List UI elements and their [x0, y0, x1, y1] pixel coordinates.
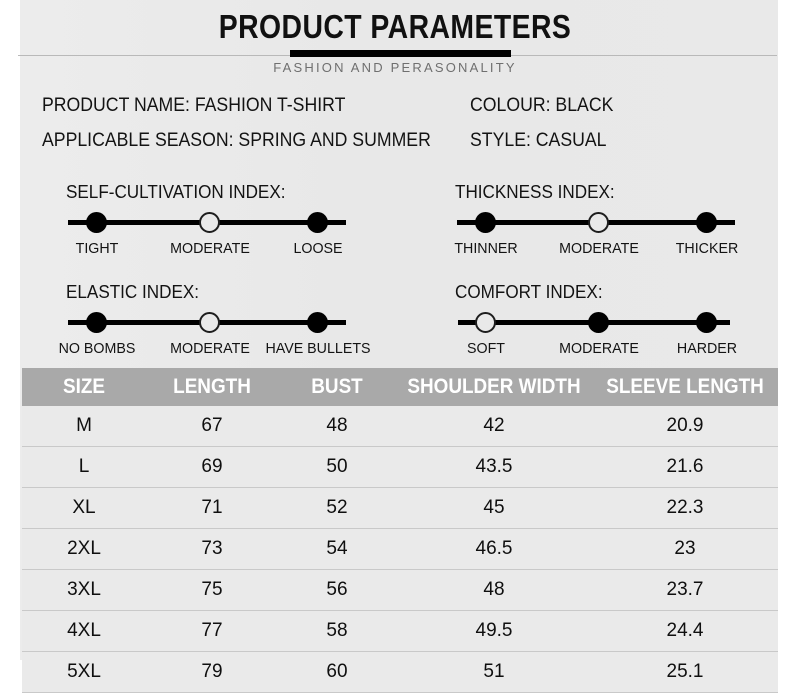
- table-header-row: SIZE LENGTH BUST SHOULDER WIDTH SLEEVE L…: [22, 368, 778, 406]
- scale-dot-moderate: [199, 212, 220, 233]
- cell-shoulder-width: 48: [396, 579, 592, 601]
- scale-dot-tight: [86, 212, 107, 233]
- cell-bust: 60: [278, 661, 396, 683]
- product-parameters-infographic: PRODUCT PARAMETERS FASHION AND PERASONAL…: [0, 0, 790, 698]
- table-row: XL 71 52 45 22.3: [22, 488, 778, 529]
- product-name-text: PRODUCT NAME: FASHION T-SHIRT: [42, 95, 345, 117]
- cell-length: 75: [146, 579, 278, 601]
- scale-dot-have-bullets: [307, 312, 328, 333]
- cell-sleeve-length: 23: [592, 538, 778, 560]
- cell-size: XL: [22, 497, 146, 519]
- scale-dot-soft: [475, 312, 496, 333]
- product-style-text: STYLE: CASUAL: [470, 130, 607, 152]
- cell-sleeve-length: 24.4: [592, 620, 778, 642]
- self-cultivation-index-scale: SELF-CULTIVATION INDEX: TIGHT MODERATE L…: [66, 182, 396, 272]
- thickness-index-scale: THICKNESS INDEX: THINNER MODERATE THICKE…: [455, 182, 785, 272]
- cell-length: 77: [146, 620, 278, 642]
- scale-dot-thicker: [696, 212, 717, 233]
- table-row: 2XL 73 54 46.5 23: [22, 529, 778, 570]
- scale-label: TIGHT: [76, 240, 119, 257]
- table-row: 3XL 75 56 48 23.7: [22, 570, 778, 611]
- scale-dot-moderate: [588, 312, 609, 333]
- scale-label: MODERATE: [170, 340, 250, 357]
- cell-sleeve-length: 25.1: [592, 661, 778, 683]
- page-subtitle: FASHION AND PERASONALITY: [0, 60, 790, 75]
- scale-label: THICKER: [676, 240, 739, 257]
- scale-label: HAVE BULLETS: [265, 340, 370, 357]
- scale-label: MODERATE: [559, 240, 639, 257]
- scale-label: MODERATE: [170, 240, 250, 257]
- column-header-size: SIZE: [28, 375, 140, 399]
- cell-sleeve-length: 21.6: [592, 456, 778, 478]
- elastic-index-scale: ELASTIC INDEX: NO BOMBS MODERATE HAVE BU…: [66, 282, 396, 372]
- comfort-index-scale: COMFORT INDEX: SOFT MODERATE HARDER: [455, 282, 785, 372]
- product-colour-text: COLOUR: BLACK: [470, 95, 613, 117]
- cell-size: M: [22, 415, 146, 437]
- table-row: M 67 48 42 20.9: [22, 406, 778, 447]
- scale-label: THINNER: [454, 240, 517, 257]
- scale-label: HARDER: [677, 340, 737, 357]
- cell-length: 67: [146, 415, 278, 437]
- cell-size: 5XL: [22, 661, 146, 683]
- cell-length: 79: [146, 661, 278, 683]
- cell-size: 2XL: [22, 538, 146, 560]
- scale-dot-harder: [696, 312, 717, 333]
- scale-title: SELF-CULTIVATION INDEX:: [66, 182, 285, 203]
- cell-shoulder-width: 46.5: [396, 538, 592, 560]
- cell-bust: 50: [278, 456, 396, 478]
- header-accent-bar: [290, 50, 511, 57]
- column-header-sleeve-length: SLEEVE LENGTH: [601, 375, 768, 399]
- size-table: SIZE LENGTH BUST SHOULDER WIDTH SLEEVE L…: [22, 368, 778, 693]
- cell-size: 3XL: [22, 579, 146, 601]
- cell-shoulder-width: 42: [396, 415, 592, 437]
- cell-length: 71: [146, 497, 278, 519]
- cell-bust: 58: [278, 620, 396, 642]
- table-row: 4XL 77 58 49.5 24.4: [22, 611, 778, 652]
- cell-length: 69: [146, 456, 278, 478]
- cell-sleeve-length: 20.9: [592, 415, 778, 437]
- cell-bust: 52: [278, 497, 396, 519]
- scale-dot-moderate: [588, 212, 609, 233]
- table-row: 5XL 79 60 51 25.1: [22, 652, 778, 693]
- cell-bust: 48: [278, 415, 396, 437]
- scale-dot-thinner: [475, 212, 496, 233]
- cell-shoulder-width: 49.5: [396, 620, 592, 642]
- scale-title: COMFORT INDEX:: [455, 282, 603, 303]
- column-header-shoulder-width: SHOULDER WIDTH: [406, 375, 582, 399]
- scale-dot-loose: [307, 212, 328, 233]
- cell-length: 73: [146, 538, 278, 560]
- table-row: L 69 50 43.5 21.6: [22, 447, 778, 488]
- cell-bust: 56: [278, 579, 396, 601]
- cell-shoulder-width: 51: [396, 661, 592, 683]
- cell-size: L: [22, 456, 146, 478]
- column-header-bust: BUST: [284, 375, 390, 399]
- scale-label: MODERATE: [559, 340, 639, 357]
- scale-dot-moderate: [199, 312, 220, 333]
- product-season-text: APPLICABLE SEASON: SPRING AND SUMMER: [42, 130, 431, 152]
- cell-shoulder-width: 43.5: [396, 456, 592, 478]
- scale-label: NO BOMBS: [59, 340, 136, 357]
- cell-size: 4XL: [22, 620, 146, 642]
- cell-sleeve-length: 22.3: [592, 497, 778, 519]
- scale-title: ELASTIC INDEX:: [66, 282, 199, 303]
- scale-label: SOFT: [467, 340, 505, 357]
- page-title: PRODUCT PARAMETERS: [55, 8, 734, 46]
- column-header-length: LENGTH: [153, 375, 272, 399]
- cell-shoulder-width: 45: [396, 497, 592, 519]
- scale-dot-no-bombs: [86, 312, 107, 333]
- cell-sleeve-length: 23.7: [592, 579, 778, 601]
- scale-label: LOOSE: [293, 240, 342, 257]
- cell-bust: 54: [278, 538, 396, 560]
- scale-title: THICKNESS INDEX:: [455, 182, 615, 203]
